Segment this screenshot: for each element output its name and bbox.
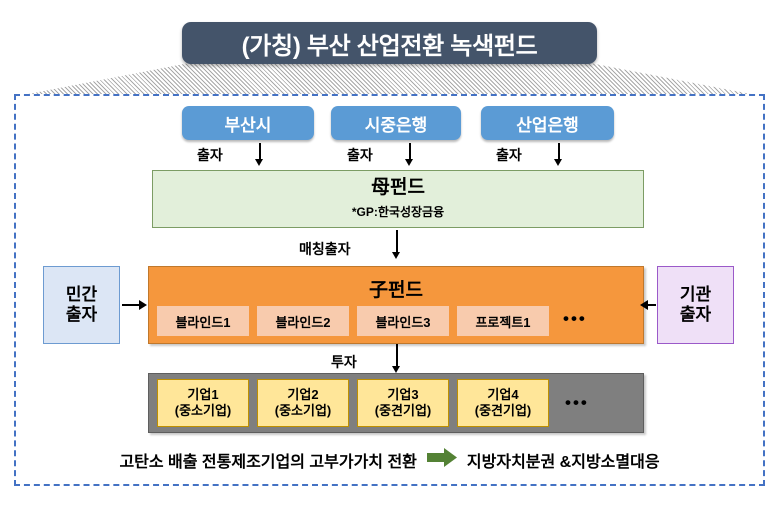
company-type: (중견기업) xyxy=(375,403,432,419)
company-cell[interactable]: 기업3 (중견기업) xyxy=(357,379,449,427)
child-fund-cell[interactable]: 블라인드3 xyxy=(357,306,449,336)
flow-label-investment-3: 출자 xyxy=(496,145,522,165)
child-fund-ellipsis: ••• xyxy=(557,310,587,333)
institutional-investor-line2: 출자 xyxy=(680,305,711,325)
arrow-line-matching xyxy=(396,230,398,254)
company-strip: 기업1 (중소기업) 기업2 (중소기업) 기업3 (중견기업) 기업4 (중견… xyxy=(148,373,644,433)
diagram-canvas: (가칭) 부산 산업전환 녹색펀드 부산시 시중은행 산업은행 출자 출자 출자… xyxy=(0,0,779,505)
mother-fund-box[interactable]: 母펀드 *GP:한국성장금융 xyxy=(152,170,644,228)
caption-left-text: 고탄소 배출 전통제조기업의 고부가가치 전환 xyxy=(119,448,416,472)
private-investor-box[interactable]: 민간 출자 xyxy=(43,266,120,344)
institutional-investor-line1: 기관 xyxy=(680,285,711,305)
arrow-head-2 xyxy=(405,159,413,166)
page-title: (가칭) 부산 산업전환 녹색펀드 xyxy=(182,22,597,64)
mother-fund-subtitle: *GP:한국성장금융 xyxy=(352,203,444,220)
institutional-investor-box[interactable]: 기관 출자 xyxy=(657,266,734,344)
company-type: (중견기업) xyxy=(475,403,532,419)
child-fund-title: 子펀드 xyxy=(149,275,643,302)
child-fund-cell[interactable]: 블라인드2 xyxy=(257,306,349,336)
child-fund-cell[interactable]: 프로젝트1 xyxy=(457,306,549,336)
company-name: 기업3 xyxy=(387,387,418,403)
child-fund-box[interactable]: 子펀드 블라인드1 블라인드2 블라인드3 프로젝트1 ••• xyxy=(148,266,644,344)
flow-label-investment-2: 출자 xyxy=(347,145,373,165)
private-investor-line2: 출자 xyxy=(66,305,97,325)
funder-box-commercial-bank[interactable]: 시중은행 xyxy=(331,106,461,140)
arrow-line-private xyxy=(122,304,140,306)
company-cell[interactable]: 기업4 (중견기업) xyxy=(457,379,549,427)
arrow-head-3 xyxy=(554,159,562,166)
flow-label-investment-to-company: 투자 xyxy=(331,352,357,372)
flow-label-matching-investment: 매칭출자 xyxy=(299,239,351,259)
funder-box-industrial-bank[interactable]: 산업은행 xyxy=(481,106,614,140)
child-fund-cell[interactable]: 블라인드1 xyxy=(157,306,249,336)
arrow-head-1 xyxy=(255,159,263,166)
bottom-caption: 고탄소 배출 전통제조기업의 고부가가치 전환 지방자치분권 &지방소멸대응 xyxy=(0,448,779,472)
arrow-head-institution xyxy=(640,300,648,310)
child-fund-cell-row: 블라인드1 블라인드2 블라인드3 프로젝트1 ••• xyxy=(157,306,635,336)
company-ellipsis: ••• xyxy=(557,393,589,413)
mother-fund-title: 母펀드 xyxy=(371,178,425,199)
caption-right-text: 지방자치분권 &지방소멸대응 xyxy=(467,448,660,472)
flow-label-investment-1: 출자 xyxy=(197,145,223,165)
arrow-head-matching xyxy=(392,252,400,259)
company-name: 기업1 xyxy=(187,387,218,403)
arrow-line-institution xyxy=(648,304,656,306)
green-arrow-icon xyxy=(427,448,457,472)
arrow-head-private xyxy=(139,300,147,310)
page-title-label: (가칭) 부산 산업전환 녹색펀드 xyxy=(242,26,538,61)
company-cell[interactable]: 기업1 (중소기업) xyxy=(157,379,249,427)
company-cell[interactable]: 기업2 (중소기업) xyxy=(257,379,349,427)
company-name: 기업2 xyxy=(287,387,318,403)
arrow-line-invest xyxy=(396,344,398,368)
company-type: (중소기업) xyxy=(175,403,232,419)
company-name: 기업4 xyxy=(487,387,518,403)
funder-label: 산업은행 xyxy=(516,111,579,136)
company-type: (중소기업) xyxy=(275,403,332,419)
funder-label: 시중은행 xyxy=(365,111,428,136)
arrow-head-invest xyxy=(392,366,400,373)
funder-box-busan-city[interactable]: 부산시 xyxy=(182,106,314,140)
funder-label: 부산시 xyxy=(225,111,272,136)
private-investor-line1: 민간 xyxy=(66,285,97,305)
